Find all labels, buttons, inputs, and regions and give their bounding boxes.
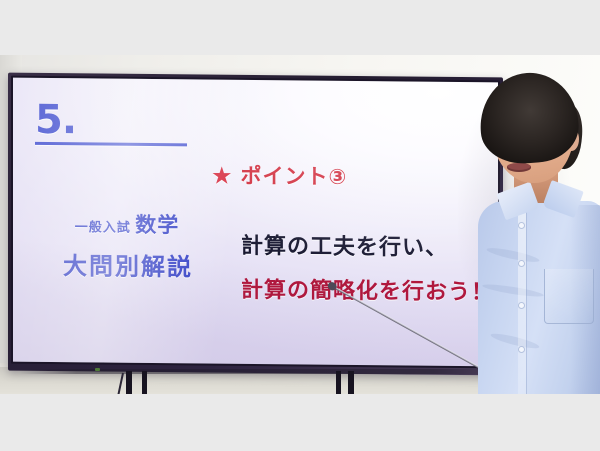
slide-subject: 数学 [135, 214, 179, 237]
presentation-slide: 5. 一般入試 数学 大問別解説 ★ポイント③ 計算の工夫を行い、 計算の簡略化… [13, 78, 498, 367]
presenter-clip [452, 55, 600, 394]
point-heading-label: ポイント③ [241, 165, 348, 189]
presenter-mouth [507, 163, 531, 172]
slide-number-block: 5. [35, 100, 195, 147]
shirt-placket [518, 205, 526, 394]
tv-stand-leg-right-2 [348, 371, 354, 394]
screenshot-frame: 5. 一般入試 数学 大問別解説 ★ポイント③ 計算の工夫を行い、 計算の簡略化… [0, 0, 600, 451]
point-heading: ★ポイント③ [211, 160, 347, 192]
letterbox-bottom [0, 394, 600, 451]
shirt-button-1 [519, 223, 524, 228]
shirt-button-4 [519, 347, 524, 352]
slide-section-title: 大問別解説 [33, 246, 223, 283]
slide-number: 5. [35, 100, 195, 142]
star-icon: ★ [211, 163, 234, 190]
shirt-pocket [544, 269, 594, 324]
presenter [452, 55, 600, 394]
tv-screen: 5. 一般入試 数学 大問別解説 ★ポイント③ 計算の工夫を行い、 計算の簡略化… [13, 78, 498, 367]
tv-stand-leg-left [126, 371, 132, 394]
slide-subject-line: 一般入試 数学 [37, 208, 217, 240]
television: 5. 一般入試 数学 大問別解説 ★ポイント③ 計算の工夫を行い、 計算の簡略化… [8, 73, 503, 376]
shirt-button-3 [519, 303, 524, 308]
power-led-icon [95, 368, 100, 371]
tv-base-shadow [20, 369, 490, 374]
slide-body-line-1: 計算の工夫を行い、 [241, 228, 448, 262]
shirt-button-2 [519, 261, 524, 266]
letterbox-top [0, 0, 600, 55]
lecture-photo: 5. 一般入試 数学 大問別解説 ★ポイント③ 計算の工夫を行い、 計算の簡略化… [0, 55, 600, 394]
presenter-hair [477, 70, 581, 167]
slide-exam-type: 一般入試 [75, 219, 131, 235]
tv-stand-leg-right [336, 371, 341, 394]
tv-stand-leg-left-2 [142, 371, 147, 394]
